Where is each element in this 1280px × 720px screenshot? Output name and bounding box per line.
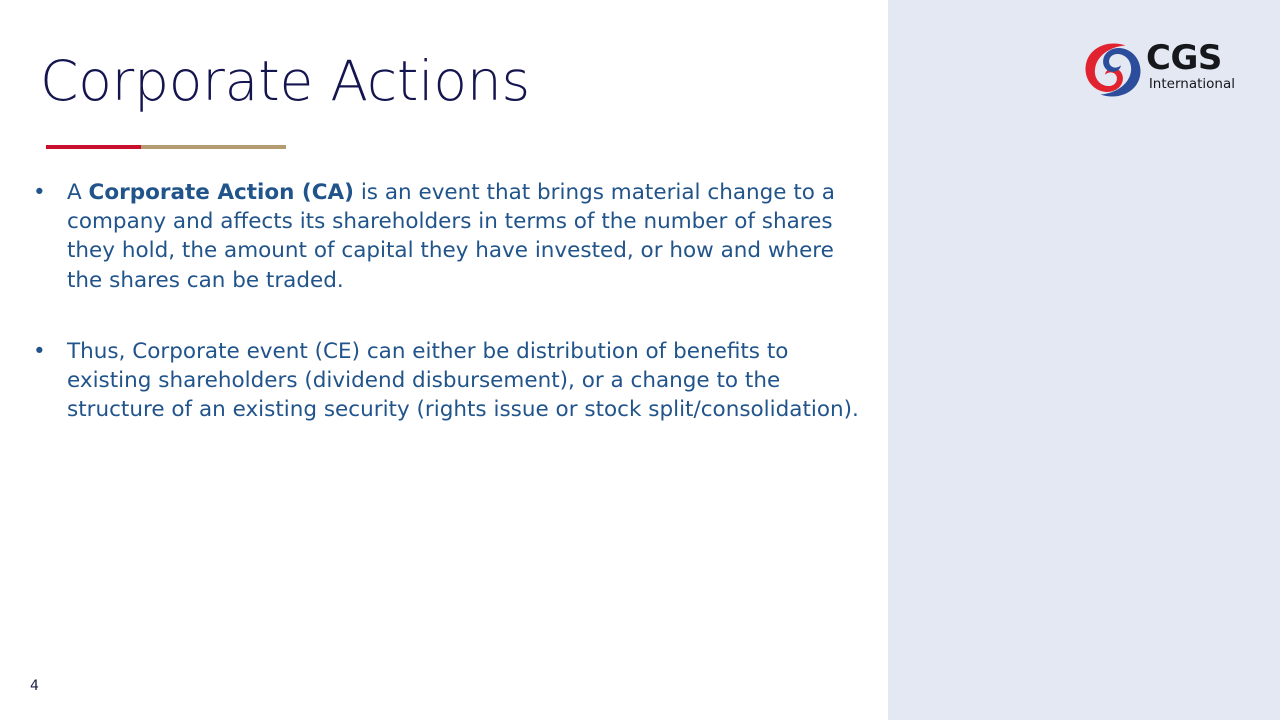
cgs-international-logo: CGS International <box>1084 40 1236 100</box>
bullet-marker-icon: • <box>22 178 67 207</box>
accent-rule-gold-segment <box>141 145 286 149</box>
accent-rule-red-segment <box>46 145 141 149</box>
page-number: 4 <box>30 678 39 694</box>
bullet-spacer <box>22 295 862 337</box>
slide-body: • A Corporate Action (CA) is an event th… <box>22 178 862 424</box>
page-title: Corporate Actions <box>40 48 530 114</box>
cgs-swirl-logo-icon <box>1084 42 1142 98</box>
bullet-text-1: A Corporate Action (CA) is an event that… <box>67 178 862 295</box>
bullet-1-bold-term: Corporate Action (CA) <box>89 180 354 205</box>
bullet-marker-icon: • <box>22 337 67 366</box>
right-decorative-panel <box>888 0 1280 720</box>
list-item: • A Corporate Action (CA) is an event th… <box>22 178 862 295</box>
title-accent-rule <box>46 145 286 149</box>
list-item: • Thus, Corporate event (CE) can either … <box>22 337 862 425</box>
slide-canvas: CGS International Corporate Actions • A … <box>0 0 1280 720</box>
logo-wordmark: CGS International <box>1146 40 1236 98</box>
logo-primary-text: CGS <box>1146 40 1236 76</box>
bullet-text-2: Thus, Corporate event (CE) can either be… <box>67 337 862 425</box>
bullet-1-lead: A <box>67 180 89 205</box>
logo-secondary-text: International <box>1146 76 1236 92</box>
